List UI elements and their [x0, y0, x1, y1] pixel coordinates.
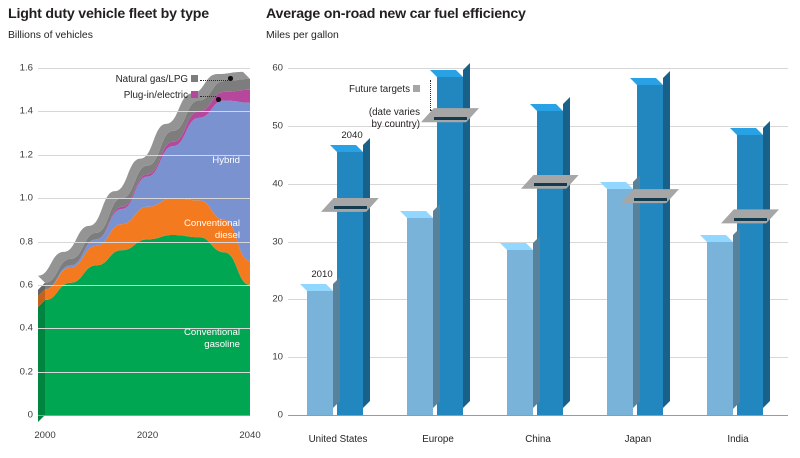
y-axis-tick-label: 0.2: [20, 366, 33, 377]
gridline-y-0.6: [38, 285, 250, 286]
bar-front-face: [407, 218, 433, 415]
bar-front-face: [737, 135, 763, 415]
panel-fuel-efficiency: Average on-road new car fuel efficiency …: [258, 0, 800, 458]
bar-europe-2040[interactable]: [437, 77, 463, 415]
gridline-y-0.2: [38, 372, 250, 373]
y-axis-tick-label: 1.4: [20, 106, 33, 117]
bar-side-face: [363, 138, 370, 408]
leader-dot-natural-gas-lpg: [228, 76, 233, 81]
future-target-marker-india: [721, 209, 779, 227]
y-axis-tick-label: 1.2: [20, 149, 33, 160]
bar-front-face: [637, 85, 663, 415]
target-rule-line: [634, 198, 666, 201]
bar-front-face: [437, 77, 463, 415]
future-target-marker-china: [521, 175, 579, 193]
y-axis-tick-label: 1.6: [20, 63, 33, 74]
legend-swatch-natural-gas-lpg: [191, 75, 198, 82]
y-axis-tick-label: 0.6: [20, 279, 33, 290]
area-side-face: [38, 300, 45, 422]
gridline-y-1.6: [38, 68, 250, 69]
gridline-y-1.0: [38, 198, 250, 199]
legend-item-plug-in-electric: Plug-in/electric: [124, 90, 198, 101]
bar-side-face: [733, 228, 740, 409]
bar-side-face: [533, 236, 540, 408]
bar-front-face: [307, 291, 333, 415]
leader-dot-plug-in-electric: [216, 97, 221, 102]
bar-front-face: [537, 111, 563, 415]
bar-front-face: [337, 152, 363, 415]
figure-container: Light duty vehicle fleet by type Billion…: [0, 0, 800, 458]
bar-side-face: [433, 204, 440, 408]
target-rule-line: [334, 206, 366, 209]
bar-side-face: [663, 71, 670, 408]
x-axis-tick-label: 2000: [34, 430, 55, 441]
area-label-conventional-gasoline: Conventional gasoline: [120, 327, 240, 350]
left-chart-title: Light duty vehicle fleet by type: [8, 6, 209, 22]
future-target-marker-europe: [421, 108, 479, 126]
legend-label-natural-gas-lpg: Natural gas/LPG: [116, 74, 188, 85]
bar-front-face: [707, 242, 733, 416]
y-axis-tick-label: 0: [28, 410, 33, 421]
annotation-leader-vertical: [430, 80, 431, 110]
y-axis-tick-label: 0.4: [20, 323, 33, 334]
bar-china-2010[interactable]: [507, 250, 533, 415]
bar-front-face: [507, 250, 533, 415]
left-chart-subtitle: Billions of vehicles: [8, 30, 93, 41]
future-target-marker-united-states: [321, 198, 379, 216]
legend-item-natural-gas-lpg: Natural gas/LPG: [116, 74, 198, 85]
bar-india-2040[interactable]: [737, 135, 763, 415]
bar-europe-2010[interactable]: [407, 218, 433, 415]
area-label-conventional-diesel: Conventional diesel: [120, 218, 240, 241]
bar-japan-2010[interactable]: [607, 189, 633, 415]
gridline-y-1.4: [38, 111, 250, 112]
bar-japan-2040[interactable]: [637, 85, 663, 415]
target-rule-line: [534, 183, 566, 186]
leader-line-plug-in-electric: [200, 96, 216, 97]
leader-line-natural-gas-lpg: [200, 80, 228, 81]
target-rule-line: [734, 218, 766, 221]
bar-side-face: [333, 277, 340, 408]
x-axis-tick-label: 2020: [137, 430, 158, 441]
bar-front-face: [607, 189, 633, 415]
bar-side-face: [763, 121, 770, 408]
bar-side-face: [563, 97, 570, 408]
bar-china-2040[interactable]: [537, 111, 563, 415]
bar-united-states-2040[interactable]: [337, 152, 363, 415]
panel-light-duty-fleet: Light duty vehicle fleet by type Billion…: [0, 0, 258, 458]
bar-india-2010[interactable]: [707, 242, 733, 416]
area-label-hybrid: Hybrid: [145, 155, 240, 167]
bar-united-states-2010[interactable]: [307, 291, 333, 415]
bar-side-face: [633, 175, 640, 408]
y-axis-tick-label: 1.0: [20, 193, 33, 204]
gridline-y-0: [38, 415, 250, 416]
legend-label-plug-in-electric: Plug-in/electric: [124, 90, 188, 101]
target-rule-line: [434, 117, 466, 120]
area-plot: 00.20.40.60.81.01.21.41.6200020202040: [38, 68, 250, 422]
stacked-area-svg: [38, 68, 250, 422]
legend-swatch-plug-in-electric: [191, 91, 198, 98]
future-target-marker-japan: [621, 189, 679, 207]
y-axis-tick-label: 0.8: [20, 236, 33, 247]
gridline-y-0.8: [38, 242, 250, 243]
